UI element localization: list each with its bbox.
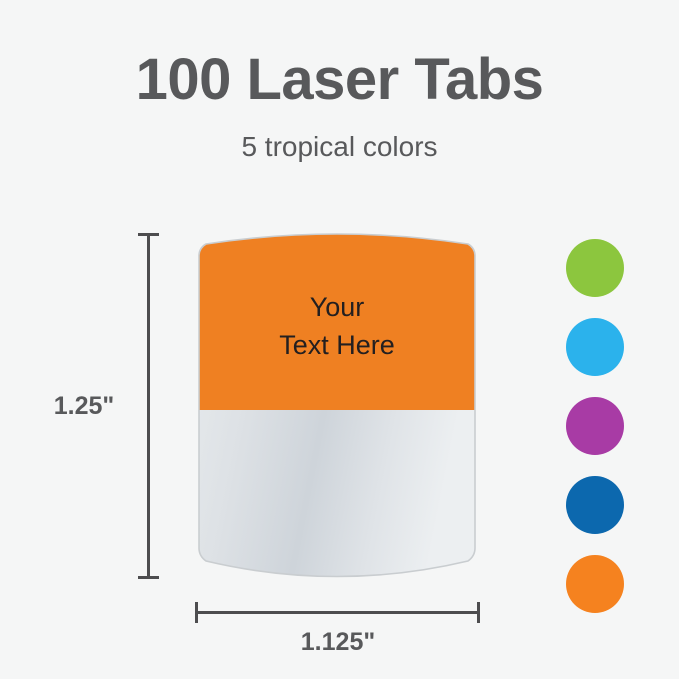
height-dimension-cap-bottom (138, 576, 159, 579)
width-dimension-line (197, 611, 479, 614)
color-swatch-magenta (566, 397, 624, 455)
color-swatch-orange (566, 555, 624, 613)
color-swatch-list (566, 239, 624, 613)
color-swatch-dark-blue (566, 476, 624, 534)
page-subtitle: 5 tropical colors (0, 130, 679, 164)
width-dimension-cap-right (477, 602, 480, 623)
width-dimension-cap-left (195, 602, 198, 623)
height-dimension-cap-top (138, 233, 159, 236)
height-dimension-line (147, 236, 150, 578)
tab-color-band (196, 232, 478, 410)
page-title: 100 Laser Tabs (0, 48, 679, 112)
product-infographic: 100 Laser Tabs 5 tropical colors (0, 0, 679, 679)
color-swatch-green (566, 239, 624, 297)
tab-illustration (196, 232, 478, 584)
width-dimension-label: 1.125" (197, 628, 479, 657)
tab-body (196, 232, 478, 584)
color-swatch-light-blue (566, 318, 624, 376)
tab-shape-svg (196, 232, 478, 584)
height-dimension-label: 1.25" (28, 392, 140, 421)
